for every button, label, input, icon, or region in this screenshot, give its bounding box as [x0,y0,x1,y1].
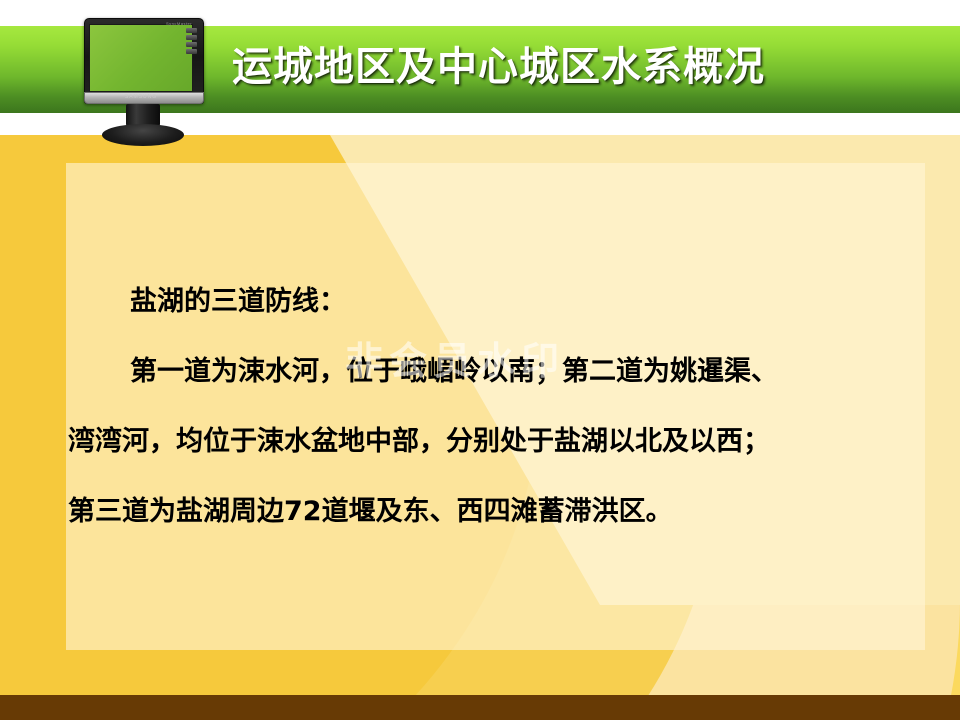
page-title: 运城地区及中心城区水系概况 [232,34,932,100]
content-panel: 盐湖的三道防线： 第一道为涑水河，位于峨嵋岭以南；第二道为姚暹渠、 湾湾河，均位… [66,163,925,650]
body-paragraph-2: 湾湾河，均位于涑水盆地中部，分别处于盐湖以北及以西； [68,407,923,477]
bottom-brown-bar [0,695,960,720]
monitor-icon: SyncMaster SAMSUNG [60,18,208,143]
body-heading: 盐湖的三道防线： [68,267,923,337]
monitor-screen-icon [89,24,193,92]
body-text-block: 盐湖的三道防线： 第一道为涑水河，位于峨嵋岭以南；第二道为姚暹渠、 湾湾河，均位… [68,267,923,547]
content-panel-inner: 盐湖的三道防线： 第一道为涑水河，位于峨嵋岭以南；第二道为姚暹渠、 湾湾河，均位… [66,163,925,650]
body-paragraph-3: 第三道为盐湖周边72道堰及东、西四滩蓄滞洪区。 [68,477,923,547]
body-paragraph-1: 第一道为涑水河，位于峨嵋岭以南；第二道为姚暹渠、 [68,337,923,407]
monitor-buttons-icon [186,28,199,62]
monitor-base-icon [102,124,184,146]
monitor-brand-label: SAMSUNG [122,94,160,102]
monitor-model-label: SyncMaster [166,21,192,26]
slide-canvas: SyncMaster SAMSUNG 运城地区及中心城区水系概况 盐湖的三道防线… [0,0,960,720]
